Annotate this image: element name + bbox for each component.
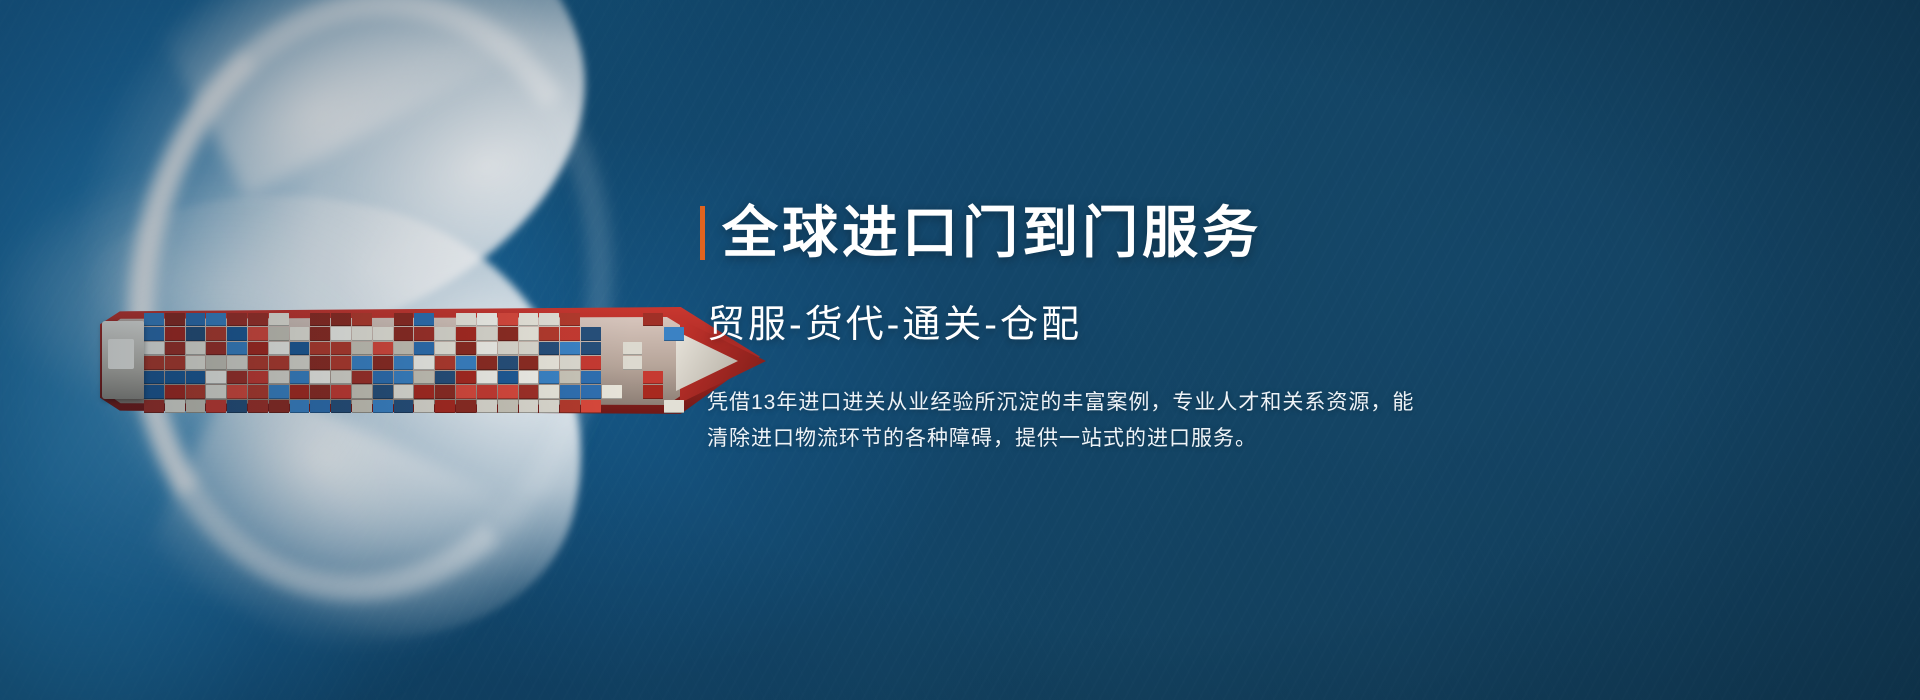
vertical-accent-bar: [700, 206, 705, 260]
banner-subtitle: 贸服-货代-通关-仓配: [707, 306, 1082, 344]
banner-description: 凭借13年进口进关从业经验所沉淀的丰富案例，专业人才和关系资源，能清除进口物流环…: [707, 385, 1417, 457]
hero-banner: 全球进口门到门服务 贸服-货代-通关-仓配 凭借13年进口进关从业经验所沉淀的丰…: [0, 0, 1920, 700]
banner-content: 全球进口门到门服务 贸服-货代-通关-仓配 凭借13年进口进关从业经验所沉淀的丰…: [700, 0, 1460, 700]
page-title: 全球进口门到门服务: [722, 205, 1262, 261]
headline-row: 全球进口门到门服务: [700, 205, 1262, 261]
